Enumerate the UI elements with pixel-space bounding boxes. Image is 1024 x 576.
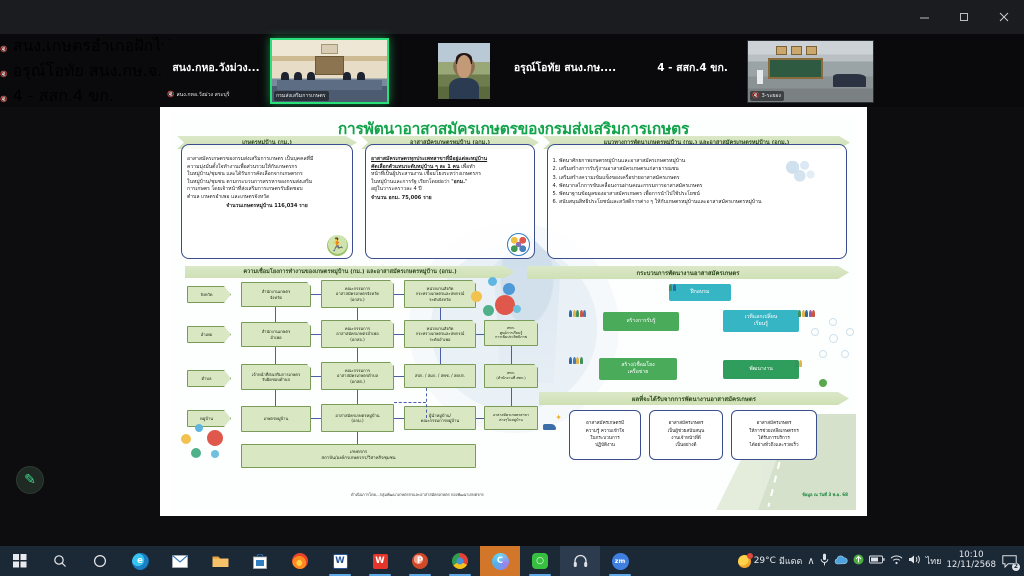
wall-frame <box>776 46 787 55</box>
list-item: สนับสนุนสิทธิประโยชน์และสวัสดิการต่าง ๆ … <box>559 198 842 206</box>
panel-guidelines-card: พัตนาศักยกาพเกษตรหมู่บ้านและอาสาสมัครเกษ… <box>547 144 847 259</box>
weather-widget[interactable]: 29°C มีแดด <box>738 554 803 568</box>
node <box>483 305 494 316</box>
taskbar-system-tray: 29°C มีแดด ∧ ไทย 10:10 12/11/2568 2 <box>738 546 1024 576</box>
connector <box>394 334 404 335</box>
hand-with-star-icon: ✦ <box>543 414 563 430</box>
mail-icon[interactable] <box>160 546 200 576</box>
gear-watermark-icon <box>786 161 816 185</box>
panel-okm-card: อาสาสมัครเกษตรทุกประเพทสาขาที่มีอยู่แต่ล… <box>365 144 535 259</box>
node <box>471 291 482 302</box>
network-hub-graphic <box>811 318 855 360</box>
flow-level-subdistrict: ตําบล <box>187 370 231 387</box>
node <box>195 424 203 432</box>
node <box>503 283 515 295</box>
wifi-icon[interactable] <box>890 554 903 568</box>
network-molecule-graphic <box>471 277 523 325</box>
dept-runner-logo: 🏃 <box>327 235 348 256</box>
connector <box>357 390 358 404</box>
connector <box>394 376 404 377</box>
flow-office-province: สํานักงานเกษตร จังหวัด <box>241 282 311 307</box>
window-titlebar <box>0 0 1024 34</box>
pen-icon: ✎ <box>24 472 36 488</box>
copilot-icon[interactable]: C <box>480 546 520 576</box>
process-step-network: สร้าง/เชื่อมโยง เครือข่าย <box>599 358 677 380</box>
flow-level-province: จังหวัด <box>187 286 231 303</box>
node <box>211 450 219 458</box>
participant-display-name: 4 - สสก.4 ขก. <box>640 59 745 76</box>
people-group-graphic-3 <box>569 357 583 364</box>
microsoft-store-icon[interactable] <box>240 546 280 576</box>
search-icon[interactable] <box>40 546 80 576</box>
language-indicator[interactable]: ไทย <box>926 554 942 568</box>
flow-volunteer-branches: อาสาสมัครเกษตรสาขา ต่างๆในหมู่บ้าน <box>484 406 538 430</box>
flow-committee-subdistrict: คณะกรรมการ อาสาสมัครเกษตรตําบล (อกสต.) <box>321 362 394 390</box>
hub-node <box>829 334 838 343</box>
windows-update-icon[interactable] <box>853 554 864 568</box>
connector <box>275 347 276 364</box>
node <box>488 277 497 286</box>
people-group-graphic-1 <box>569 310 586 317</box>
wps-office-icon[interactable]: W <box>360 546 400 576</box>
connector <box>357 432 358 444</box>
node-center <box>495 295 515 315</box>
start-button[interactable] <box>0 546 40 576</box>
chalkboard <box>768 58 823 79</box>
participant-tile-4[interactable]: อรุณ์โอทัย สนง.กษ.... <box>505 41 625 101</box>
connector <box>275 390 276 406</box>
clock-widget[interactable]: 10:10 12/11/2568 <box>946 551 996 571</box>
flow-officer-subdistrict: เจ้าหน้าที่ส่งเสริมการเกษตร รับผิดชอบตํา… <box>241 364 311 390</box>
mic-off-icon: 🔇 <box>0 96 7 103</box>
zoom-icon[interactable]: zm <box>600 546 640 576</box>
weather-temperature: 29°C <box>754 556 776 566</box>
mic-off-icon: 🔇 <box>0 71 7 78</box>
connector <box>440 308 441 320</box>
connector <box>476 334 484 335</box>
process-header-banner: กระบวนการพัตนางานอาสาสมัครเกษตร <box>527 266 849 279</box>
connector <box>311 418 321 419</box>
attendee <box>757 70 763 83</box>
connector <box>476 418 484 419</box>
flow-stk-office: สทก. (สํานักงานที่ สทก.) <box>484 364 538 388</box>
slide-footnote-left: ดําเนินการโดย...กลุ่มพัฒนาเกษตรกรและอาสา… <box>351 492 484 498</box>
flow-office-district: สํานักงานเกษตร อําเพอ <box>241 322 311 347</box>
seating-row <box>277 80 383 90</box>
flow-committee-district: คณะกรรมการ อาสาสมัครเกษตรอําเพอ (อกสอ.) <box>321 320 394 348</box>
outcome-box-3: อาสาสมัครเกษตร ให้การช่วยเหลือเกษตรกร ได… <box>731 410 817 460</box>
node <box>191 448 201 458</box>
process-step-train: ฝึกอบรม <box>669 284 731 301</box>
connector <box>311 334 321 335</box>
panel1-body: อาสาสมัครเกษตรของกรมส่งเสริมการเกษตร เป็… <box>182 145 352 214</box>
community-circle-logo <box>507 233 530 256</box>
flow-okm-village: อาสาสมัครเกษตรหมู่บ้าน (อกม.) <box>321 404 394 432</box>
hub-node <box>846 328 854 336</box>
hub-node <box>829 318 837 326</box>
weather-description: มีแดด <box>779 554 802 568</box>
flow-local-admin-orgs: สปก. / สมก. / สพช. / สดปร. <box>404 364 476 388</box>
panel-kor-mor-card: อาสาสมัครเกษตรของกรมส่งเสริมการเกษตร เป็… <box>181 144 353 259</box>
minimize-button[interactable] <box>904 0 944 34</box>
connector <box>511 346 512 364</box>
video-feed <box>438 43 490 99</box>
connector-dashed <box>394 402 426 403</box>
task-view-icon[interactable] <box>80 546 120 576</box>
hub-node <box>841 350 849 358</box>
wall-frame <box>791 46 802 55</box>
panel1-count: จํานวนเกษตรหมู่บ้าน 116,034 ราย <box>187 203 347 211</box>
node <box>513 305 521 313</box>
mic-off-icon: 🔇 <box>0 46 7 53</box>
flow-village-head: ผู้นําหมู่บ้าน/ คณะกรรมการหมู่บ้าน <box>404 406 476 430</box>
hand-icon <box>543 424 556 430</box>
flow-level-district: อําเพอ <box>187 326 231 343</box>
powerpoint-icon[interactable]: P <box>400 546 440 576</box>
vehicle <box>833 74 866 87</box>
process-step-awareness: สร้างการรับรู้ <box>603 312 679 331</box>
clock-date: 12/11/2568 <box>946 561 996 571</box>
podium <box>315 56 345 75</box>
participant-tile-2-active-speaker[interactable]: กรมส่งเสริมการเกษตร <box>272 40 387 102</box>
slide-footnote-right: ข้อมูล ณ วันที่ 3 พ.ย. 68 <box>802 491 848 498</box>
flow-unit-district: หน่วยงานสังกัด กระทรวงเกษตรและสหกรณ์ ระด… <box>404 320 476 348</box>
chrome-icon[interactable] <box>440 546 480 576</box>
shirt <box>449 78 478 99</box>
face <box>457 55 472 77</box>
outcome-box-2: อาสาสมัครเกษตร เป็นผู้ช่วยสนับสนุน งานเจ… <box>649 410 723 460</box>
participant-display-name: อรุณ์โอทัย สนง.กษ.... <box>505 59 625 76</box>
outcome-header-banner: ผลที่จะได้รับจากการพัตนางานอาสาสมัครเกษต… <box>539 392 849 405</box>
flow-header-banner: ความเชื่อมโยงการทํางานของเกษตรหมู่บ้าน (… <box>185 266 515 278</box>
participant-name-label: กรมส่งเสริมการเกษตร <box>274 91 329 101</box>
connector <box>394 294 404 295</box>
people-group-graphic-4 <box>669 284 676 291</box>
line-icon[interactable]: ○ <box>520 546 560 576</box>
hub-node <box>811 328 819 336</box>
participant-tile-3[interactable] <box>438 43 490 99</box>
participant-tile-5[interactable]: 4 - สสก.4 ขก. <box>640 41 745 101</box>
volume-icon[interactable] <box>908 554 921 568</box>
connector <box>275 307 276 322</box>
windows-taskbar: e W W P C <box>0 546 1024 576</box>
taskbar-app-icons: e W W P C <box>0 546 640 576</box>
connector <box>311 294 321 295</box>
participant-tile-1[interactable]: สนง.กหอ.วังม่วง... 🔇 สนง.กหอ.วังม่วง สระ… <box>163 41 269 101</box>
participant-name-label: 🔇 สนง.กหอ.วังม่วง สระบุรี <box>165 90 232 100</box>
wall-frame <box>806 46 817 55</box>
projector-screen <box>321 44 337 53</box>
file-explorer-icon[interactable] <box>200 546 240 576</box>
participant-name-label: 🔇 3-ระยอง <box>750 91 784 101</box>
flow-unit-province: หน่วยงานสังกัด กระทรวงเกษตรและสหกรณ์ ระด… <box>404 280 476 308</box>
firefox-icon[interactable] <box>280 546 320 576</box>
connector <box>357 308 358 320</box>
list-item: พัตนาฐานข้อมูลของอาสาสมัครเกษตร เพื่อการ… <box>559 190 842 198</box>
onedrive-icon[interactable] <box>834 555 848 568</box>
outcome-box-1: อาสาสมัครเกษตรมี ความรู้ ความเข้าใจ ในกร… <box>569 410 641 460</box>
node <box>181 434 191 444</box>
green-dot-decoration <box>819 379 827 387</box>
node-center <box>207 430 223 446</box>
connector <box>357 348 358 362</box>
edge-icon[interactable]: e <box>120 546 160 576</box>
connector <box>311 376 321 377</box>
connector-dashed <box>426 388 427 418</box>
battery-icon[interactable] <box>869 555 885 567</box>
annotate-pen-button[interactable]: ✎ <box>16 466 44 494</box>
mic-off-icon: 🔇 <box>167 92 174 98</box>
shared-screen-slide[interactable]: การพัตนาอาสาสมัครเกษตรของกรมส่งเสริมการเ… <box>160 107 867 516</box>
connector <box>394 418 404 419</box>
panel2-count: จํานวน อกม. 75,006 ราย <box>371 195 529 203</box>
people-group-graphic-2 <box>798 310 815 317</box>
participant-display-name: สนง.กหอ.วังม่วง... <box>163 59 269 76</box>
headset-app-icon[interactable] <box>560 546 600 576</box>
process-step-develop-work: พัฒนางาน <box>723 360 799 379</box>
network-molecule-graphic-2 <box>181 424 227 464</box>
hub-node <box>819 350 827 358</box>
connector <box>440 348 441 364</box>
flow-farmer-institutions: เกษตรกร สถาบัน/องค์กรเกษตรกร/วิสาหกิจชุม… <box>241 444 476 468</box>
notification-count: 2 <box>1012 563 1020 571</box>
flow-committee-province: คณะกรรมการ อาสาสมัครเกษตรจังหวัด (อกสจ.) <box>321 280 394 308</box>
maximize-restore-button[interactable] <box>944 0 984 34</box>
slide-canvas: การพัตนาอาสาสมัครเกษตรของกรมส่งเสริมการเ… <box>171 114 856 510</box>
process-step-exchange-forum: เวทีแลกเปลี่ยน เรียนรู้ <box>723 310 799 332</box>
flow-village-farmer: เกษตรหมู่บ้าน <box>241 406 311 432</box>
connector <box>511 388 512 406</box>
word-icon[interactable]: W <box>320 546 360 576</box>
show-hidden-icons-chevron-icon[interactable]: ∧ <box>807 556 814 567</box>
weather-sun-icon <box>738 555 751 568</box>
participant-tile-6[interactable]: 🔇 3-ระยอง <box>747 40 874 103</box>
participant-video-strip: สนง.กหอ.วังม่วง... 🔇 สนง.กหอ.วังม่วง สระ… <box>0 34 1024 107</box>
panel2-body: อาสาสมัครเกษตรทุกประเพทสาขาที่มีอยู่แต่ล… <box>366 145 534 205</box>
mic-off-icon: 🔇 <box>752 93 759 99</box>
star-icon: ✦ <box>555 414 562 422</box>
notification-center-button[interactable]: 2 <box>1001 554 1018 569</box>
close-button[interactable] <box>984 0 1024 34</box>
people-group-graphic-5 <box>795 360 802 367</box>
microphone-icon[interactable] <box>820 553 829 569</box>
